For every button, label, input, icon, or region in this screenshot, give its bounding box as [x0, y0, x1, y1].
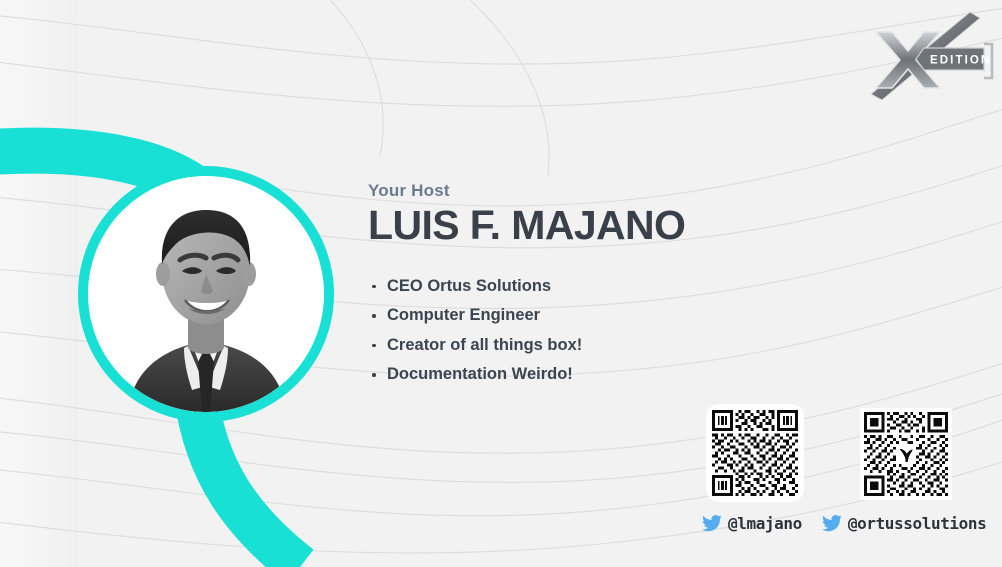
svg-text:EDITION: EDITION [930, 55, 991, 67]
avatar [88, 176, 324, 412]
list-item: Documentation Weirdo! [368, 363, 788, 386]
x-edition-logo: EDITION [858, 8, 996, 104]
social-handles: @lmajano @ortussolutions [702, 513, 986, 533]
qr-ortussolutions-image [864, 412, 948, 496]
social-handle-label: @ortussolutions [848, 514, 987, 533]
twitter-icon [822, 513, 842, 533]
logo-edition-badge: EDITION [916, 48, 991, 70]
qr-lmajano-image [712, 410, 798, 496]
avatar-photo [88, 176, 324, 412]
host-kicker: Your Host [368, 182, 788, 201]
list-item: CEO Ortus Solutions [368, 275, 788, 298]
social-ortussolutions[interactable]: @ortussolutions [822, 513, 987, 533]
twitter-icon [702, 513, 722, 533]
host-info-block: Your Host LUIS F. MAJANO CEO Ortus Solut… [368, 182, 788, 393]
left-gradient-band [0, 0, 78, 567]
list-item: Computer Engineer [368, 304, 788, 327]
social-handle-label: @lmajano [728, 514, 802, 533]
list-item: Creator of all things box! [368, 334, 788, 357]
page-title: LUIS F. MAJANO [368, 203, 788, 247]
social-lmajano[interactable]: @lmajano [702, 513, 802, 533]
qr-ortussolutions[interactable] [860, 408, 952, 500]
qr-lmajano[interactable] [706, 404, 804, 502]
host-bullet-list: CEO Ortus Solutions Computer Engineer Cr… [368, 275, 788, 387]
presentation-slide: Your Host LUIS F. MAJANO CEO Ortus Solut… [0, 0, 1002, 567]
qr-code-row [706, 404, 952, 502]
